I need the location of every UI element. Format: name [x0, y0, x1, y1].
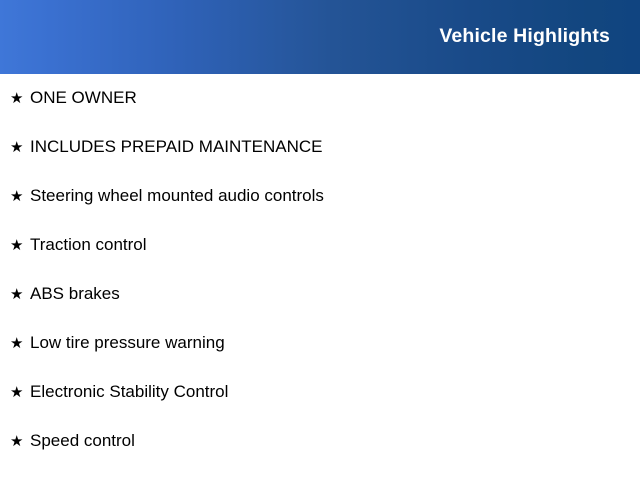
list-item-label: Speed control — [30, 432, 135, 451]
list-item-label: ONE OWNER — [30, 89, 137, 108]
list-item-label: INCLUDES PREPAID MAINTENANCE — [30, 138, 323, 157]
list-item-label: Electronic Stability Control — [30, 383, 228, 402]
star-icon: ★ — [10, 385, 30, 400]
list-item-label: Low tire pressure warning — [30, 334, 225, 353]
list-item: ★ Speed control — [0, 417, 640, 466]
list-item: ★ Low tire pressure warning — [0, 319, 640, 368]
list-item: ★ ONE OWNER — [0, 74, 640, 123]
vehicle-highlights-list: ★ ONE OWNER ★ INCLUDES PREPAID MAINTENAN… — [0, 74, 640, 466]
star-icon: ★ — [10, 287, 30, 302]
star-icon: ★ — [10, 91, 30, 106]
star-icon: ★ — [10, 434, 30, 449]
star-icon: ★ — [10, 336, 30, 351]
vehicle-highlights-page: Vehicle Highlights ★ ONE OWNER ★ INCLUDE… — [0, 0, 640, 480]
star-icon: ★ — [10, 140, 30, 155]
list-item-label: Traction control — [30, 236, 147, 255]
list-item: ★ INCLUDES PREPAID MAINTENANCE — [0, 123, 640, 172]
list-item: ★ ABS brakes — [0, 270, 640, 319]
header-banner: Vehicle Highlights — [0, 0, 640, 74]
list-item-label: Steering wheel mounted audio controls — [30, 187, 324, 206]
star-icon: ★ — [10, 189, 30, 204]
list-item: ★ Electronic Stability Control — [0, 368, 640, 417]
list-item: ★ Steering wheel mounted audio controls — [0, 172, 640, 221]
list-item: ★ Traction control — [0, 221, 640, 270]
page-title: Vehicle Highlights — [439, 27, 640, 47]
list-item-label: ABS brakes — [30, 285, 120, 304]
star-icon: ★ — [10, 238, 30, 253]
